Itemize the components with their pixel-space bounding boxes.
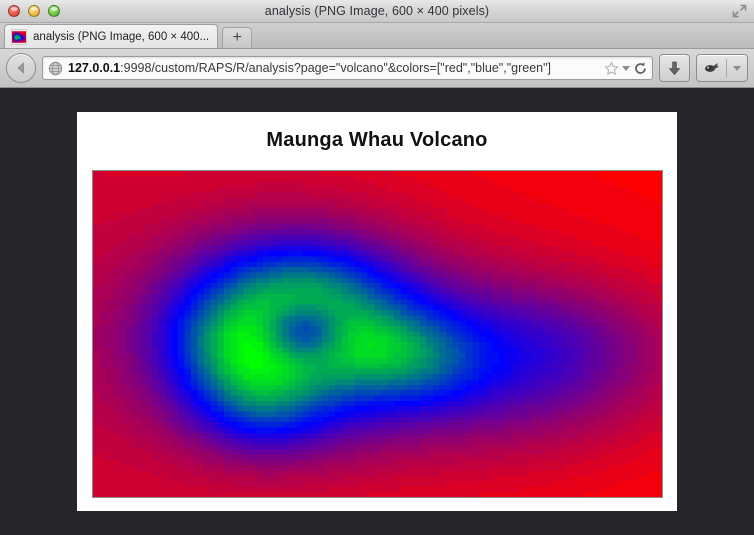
download-arrow-icon [667,60,682,77]
url-path: :9998/custom/RAPS/R/analysis?page="volca… [120,61,551,75]
globe-icon [48,61,63,76]
image-thumbnail-icon [11,29,27,45]
url-bar-actions [600,61,648,76]
new-tab-button[interactable]: + [222,27,252,48]
plugin-dropdown-button[interactable] [727,55,747,81]
tab-analysis[interactable]: analysis (PNG Image, 600 × 400... [4,24,218,48]
download-button[interactable] [659,54,690,82]
volcano-heatmap [92,170,663,498]
plugin-button-group [696,54,748,82]
url-bar[interactable]: 127.0.0.1:9998/custom/RAPS/R/analysis?pa… [42,56,653,80]
close-button[interactable] [8,5,20,17]
minimize-button[interactable] [28,5,40,17]
plugin-icon[interactable] [697,55,726,81]
image-page: Maunga Whau Volcano [77,112,677,511]
browser-viewport: Maunga Whau Volcano [0,88,754,535]
tab-title: analysis (PNG Image, 600 × 400... [33,31,209,43]
reload-icon[interactable] [633,61,648,76]
url-text: 127.0.0.1:9998/custom/RAPS/R/analysis?pa… [68,61,600,75]
volcano-heatmap-canvas [93,171,662,497]
window-titlebar: analysis (PNG Image, 600 × 400 pixels) [0,0,754,23]
chevron-down-icon [733,66,741,71]
back-arrow-icon[interactable] [6,53,36,83]
chevron-down-icon[interactable] [622,66,630,71]
browser-window: analysis (PNG Image, 600 × 400 pixels) a… [0,0,754,535]
bookmark-star-icon[interactable] [604,61,619,76]
navigation-toolbar: 127.0.0.1:9998/custom/RAPS/R/analysis?pa… [0,49,754,88]
fullscreen-arrows-icon[interactable] [731,3,748,19]
page-title: Maunga Whau Volcano [77,112,677,152]
url-host: 127.0.0.1 [68,61,120,75]
tab-strip: analysis (PNG Image, 600 × 400... + [0,23,754,49]
window-title: analysis (PNG Image, 600 × 400 pixels) [0,4,754,18]
zoom-button[interactable] [48,5,60,17]
window-controls [8,5,60,17]
